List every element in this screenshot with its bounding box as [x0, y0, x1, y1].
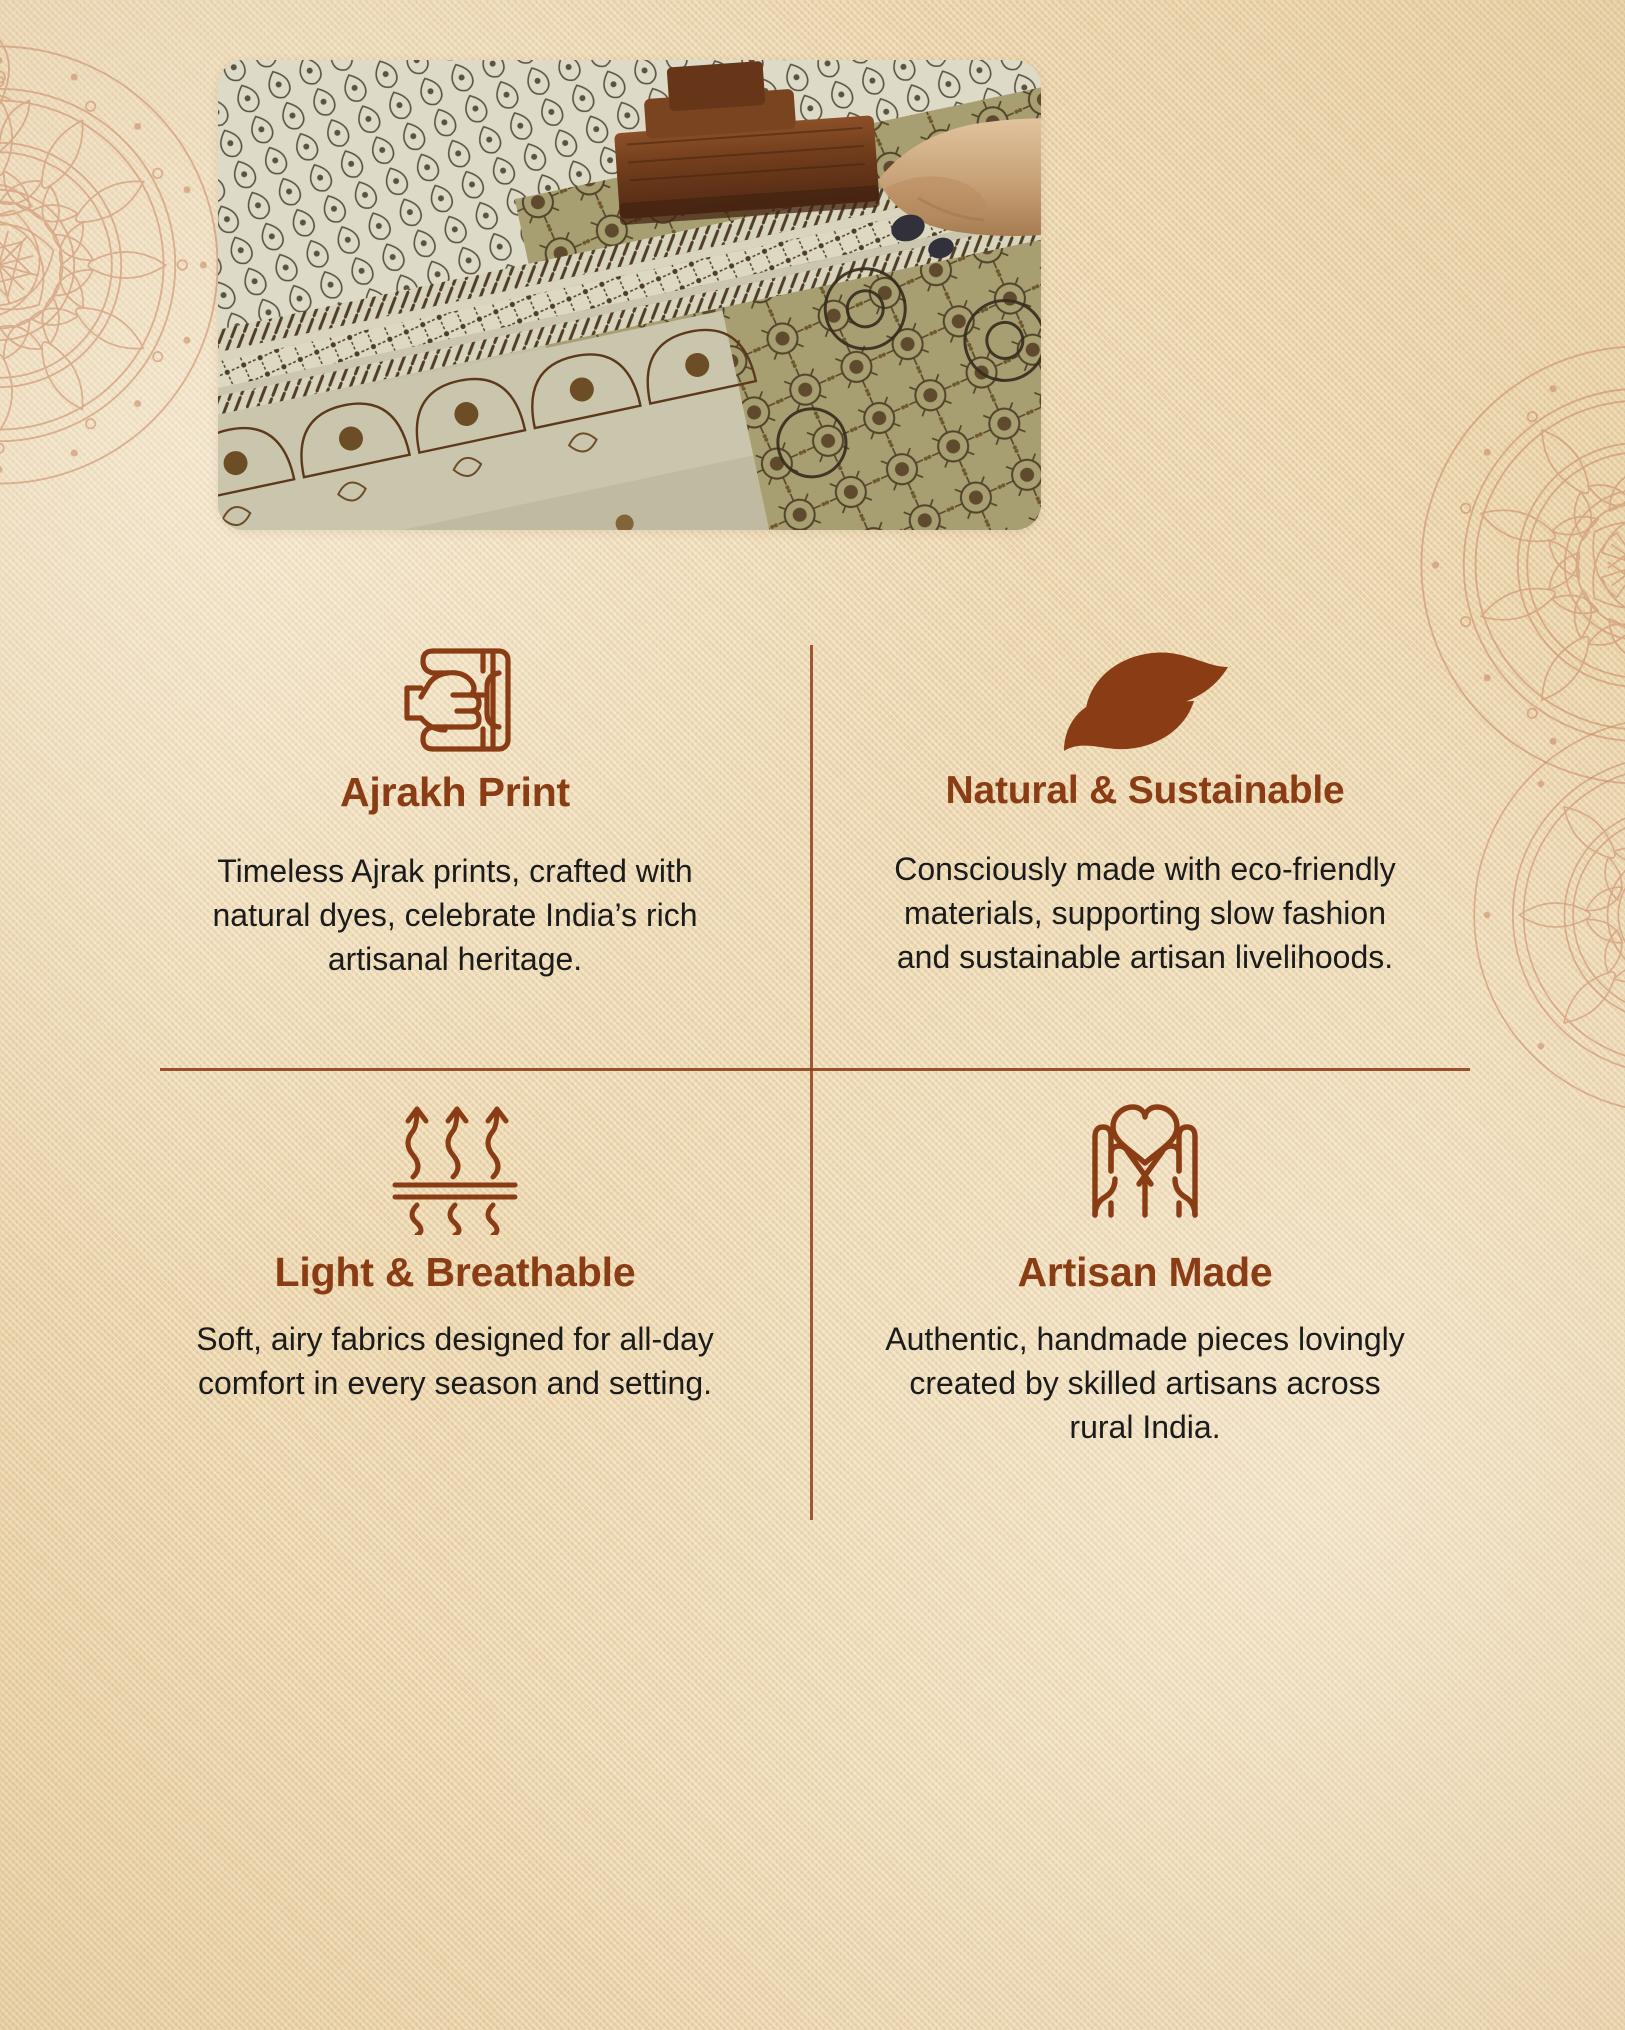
feature-title: Light & Breathable — [155, 1250, 755, 1295]
hand-block-print-icon-wrap — [155, 640, 755, 760]
feature-card-natural-sustainable: Natural & Sustainable Consciously made w… — [845, 640, 1445, 979]
feature-card-light-breathable: Light & Breathable Soft, airy fabrics de… — [155, 1090, 755, 1405]
hands-holding-heart-icon-wrap — [845, 1090, 1445, 1240]
leaf-icon-wrap — [845, 640, 1445, 760]
hero-image-container — [218, 60, 1041, 530]
feature-body: Authentic, handmade pieces lovingly crea… — [885, 1317, 1405, 1449]
leaf-icon — [1058, 647, 1232, 753]
breathable-airflow-icon-wrap — [155, 1090, 755, 1240]
mandala-ornament-right-bottom — [1457, 700, 1625, 1130]
hand-block-print-icon — [395, 641, 515, 759]
grid-vertical-divider — [810, 645, 813, 1520]
breathable-airflow-icon — [391, 1095, 519, 1235]
feature-card-ajrakh-print: Ajrakh Print Timeless Ajrak prints, craf… — [155, 640, 755, 982]
feature-title: Artisan Made — [845, 1250, 1445, 1295]
feature-body: Soft, airy fabrics designed for all-day … — [195, 1317, 715, 1405]
feature-body: Consciously made with eco-friendly mater… — [885, 847, 1405, 979]
features-grid: Ajrakh Print Timeless Ajrak prints, craf… — [125, 640, 1470, 1520]
feature-title: Natural & Sustainable — [845, 770, 1445, 813]
hands-holding-heart-icon — [1077, 1097, 1213, 1233]
feature-body: Timeless Ajrak prints, crafted with natu… — [195, 849, 715, 981]
ajrakh-block-printing-photo — [218, 60, 1041, 530]
feature-title: Ajrakh Print — [155, 770, 755, 815]
grid-horizontal-divider — [160, 1068, 1470, 1071]
feature-card-artisan-made: Artisan Made Authentic, handmade pieces … — [845, 1090, 1445, 1450]
feature-poster: Ajrakh Print Timeless Ajrak prints, craf… — [0, 0, 1625, 2030]
mandala-ornament-left — [0, 30, 234, 500]
